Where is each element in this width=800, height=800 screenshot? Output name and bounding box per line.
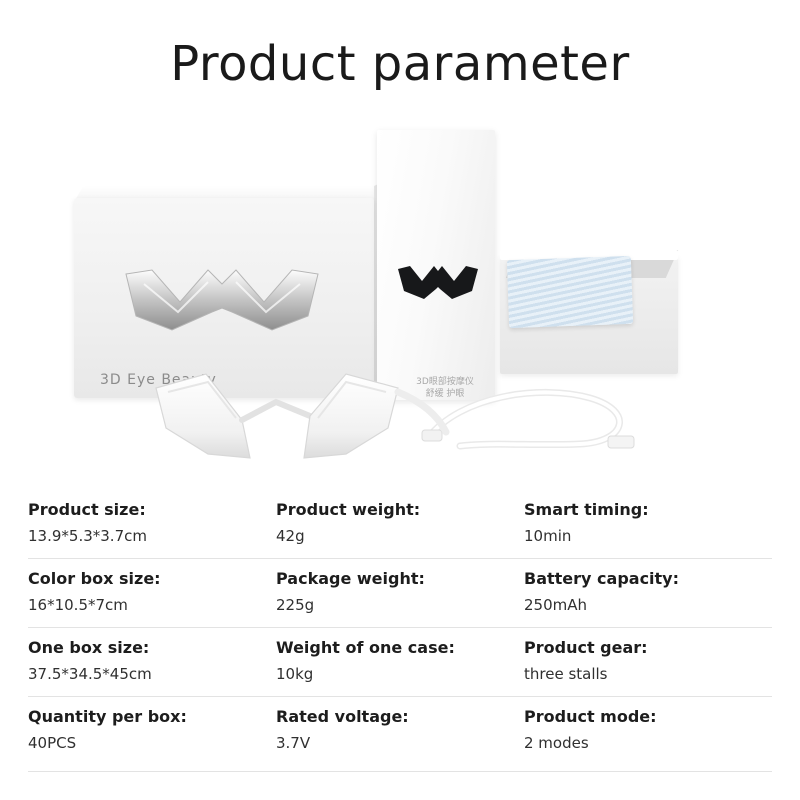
spec-cell-smart-timing: Smart timing: 10min: [524, 498, 772, 548]
product-parameter-page: Product parameter 3D Eye Beauty: [0, 0, 800, 800]
spec-cell-one-box-size: One box size: 37.5*34.5*45cm: [28, 636, 276, 686]
spec-row: Color box size: 16*10.5*7cm Package weig…: [28, 559, 772, 628]
spec-label: Smart timing:: [524, 498, 762, 522]
spec-label: Product weight:: [276, 498, 514, 522]
spec-cell-rated-voltage: Rated voltage: 3.7V: [276, 705, 524, 755]
page-title: Product parameter: [0, 36, 800, 92]
spec-label: Color box size:: [28, 567, 266, 591]
spec-value: 42g: [276, 524, 514, 548]
spec-label: Rated voltage:: [276, 705, 514, 729]
spec-label: Product size:: [28, 498, 266, 522]
spec-value: 10min: [524, 524, 762, 548]
spec-value: 13.9*5.3*3.7cm: [28, 524, 266, 548]
spec-value: 40PCS: [28, 731, 266, 755]
spec-row: One box size: 37.5*34.5*45cm Weight of o…: [28, 628, 772, 697]
spec-cell-product-gear: Product gear: three stalls: [524, 636, 772, 686]
spec-cell-product-mode: Product mode: 2 modes: [524, 705, 772, 755]
spec-label: Quantity per box:: [28, 705, 266, 729]
spec-cell-weight-of-one-case: Weight of one case: 10kg: [276, 636, 524, 686]
spec-cell-quantity-per-box: Quantity per box: 40PCS: [28, 705, 276, 755]
spec-value: 3.7V: [276, 731, 514, 755]
spec-value: 225g: [276, 593, 514, 617]
eye-massager-device: [150, 362, 450, 472]
spec-table: Product size: 13.9*5.3*3.7cm Product wei…: [28, 490, 772, 765]
spec-label: Weight of one case:: [276, 636, 514, 660]
bottom-divider: [28, 771, 772, 772]
product-photo: 3D Eye Beauty 3D眼部按摩仪 舒缓 护眼: [0, 110, 800, 490]
eye-massager-logo-icon: [396, 265, 480, 303]
usb-charging-cable: [420, 380, 660, 460]
spec-label: Package weight:: [276, 567, 514, 591]
spec-cell-product-size: Product size: 13.9*5.3*3.7cm: [28, 498, 276, 548]
spec-value: three stalls: [524, 662, 762, 686]
spec-row: Product size: 13.9*5.3*3.7cm Product wei…: [28, 490, 772, 559]
spec-row: Quantity per box: 40PCS Rated voltage: 3…: [28, 697, 772, 765]
spec-value: 250mAh: [524, 593, 762, 617]
spec-label: Product mode:: [524, 705, 762, 729]
spec-label: One box size:: [28, 636, 266, 660]
spec-label: Product gear:: [524, 636, 762, 660]
spec-cell-battery-capacity: Battery capacity: 250mAh: [524, 567, 772, 617]
spec-value: 37.5*34.5*45cm: [28, 662, 266, 686]
spec-value: 10kg: [276, 662, 514, 686]
spec-cell-product-weight: Product weight: 42g: [276, 498, 524, 548]
spec-value: 16*10.5*7cm: [28, 593, 266, 617]
spec-label: Battery capacity:: [524, 567, 762, 591]
cleaning-cloth: [507, 256, 633, 328]
spec-cell-color-box-size: Color box size: 16*10.5*7cm: [28, 567, 276, 617]
spec-cell-package-weight: Package weight: 225g: [276, 567, 524, 617]
eye-massager-mask-icon: [122, 268, 322, 338]
spec-value: 2 modes: [524, 731, 762, 755]
